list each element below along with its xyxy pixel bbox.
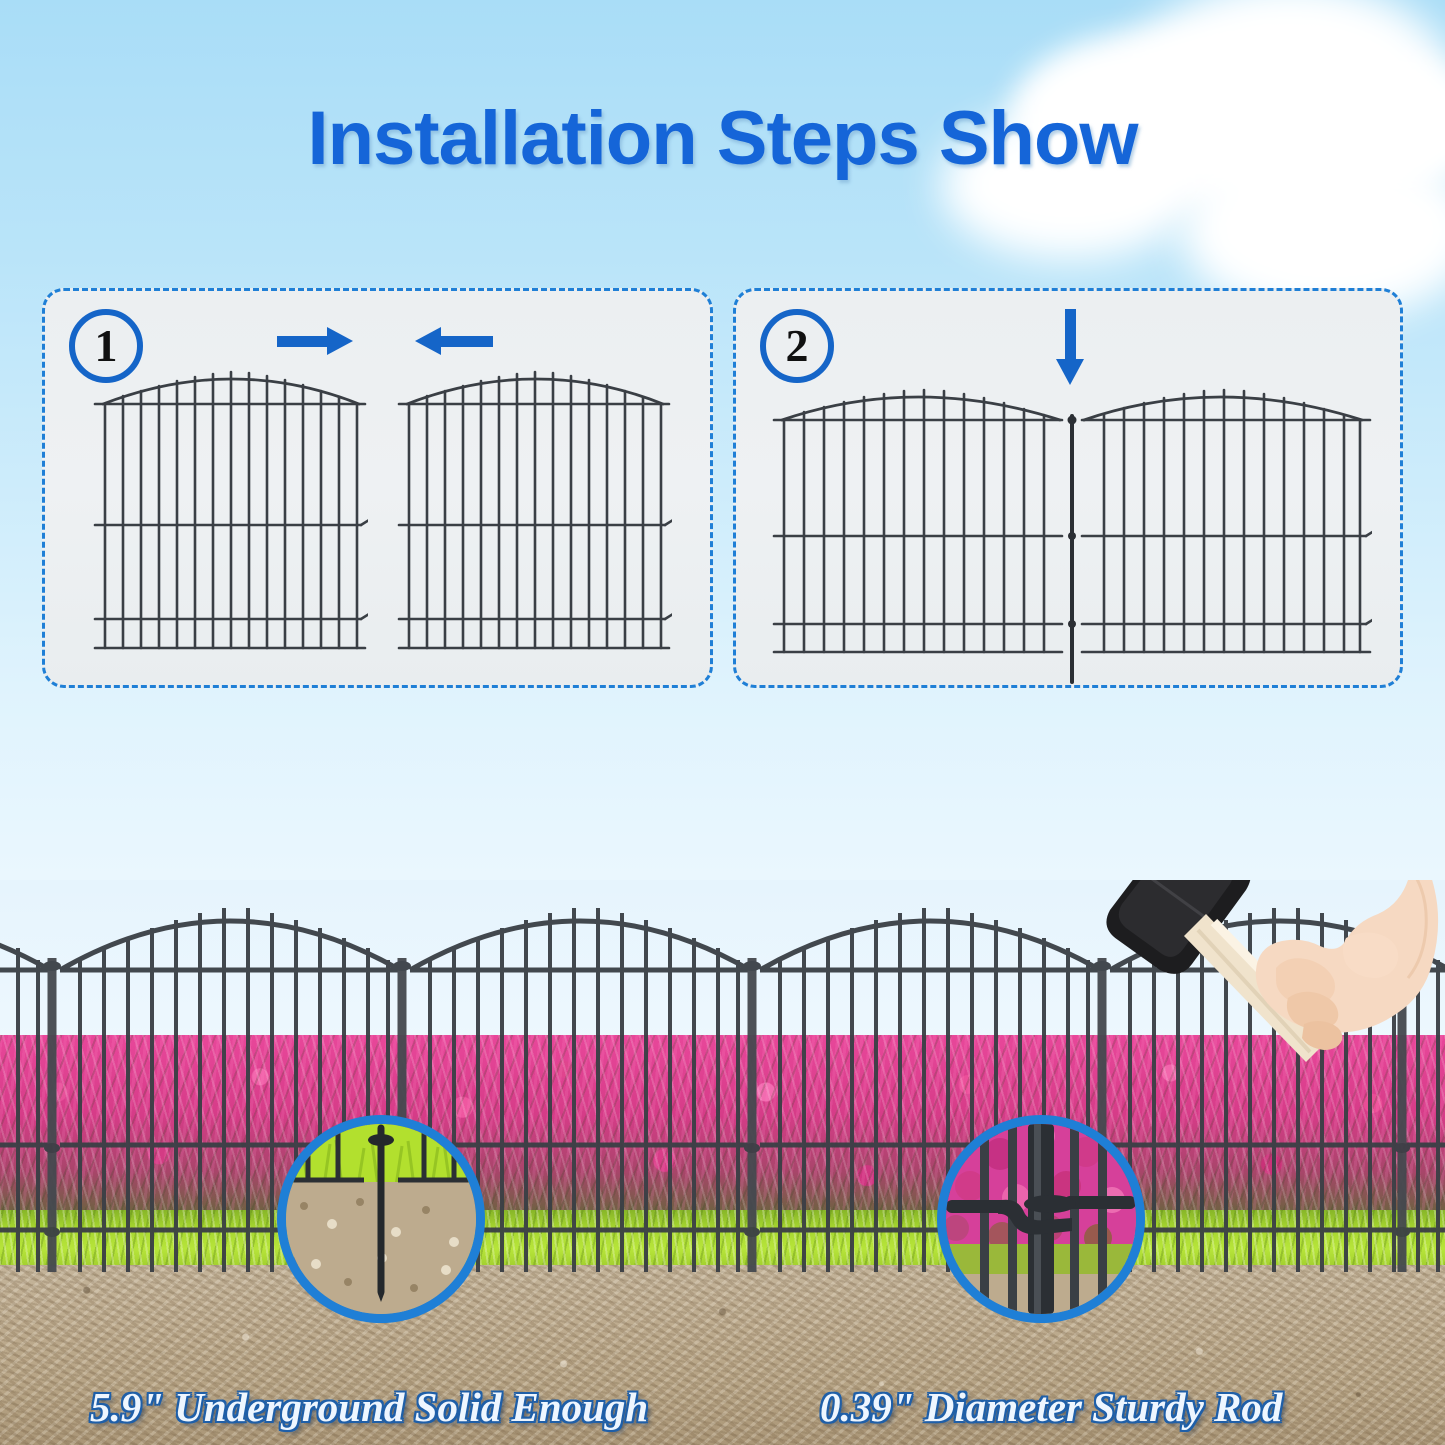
arrow-down-icon [1056, 309, 1084, 387]
page-title: Installation Steps Show [0, 95, 1445, 182]
stake-underground-illustration [286, 1124, 476, 1314]
step-2-box: 2 [733, 288, 1403, 688]
rod-rail-hook-illustration [946, 1124, 1136, 1314]
step-1-box: 1 [42, 288, 713, 688]
infographic-root: Installation Steps Show 1 [0, 0, 1445, 1445]
arrow-right-icon [277, 327, 355, 355]
caption-underground-depth: 5.9" Underground Solid Enough [90, 1383, 648, 1431]
installed-fence-scene: 5.9" Underground Solid Enough 0.39" Diam… [0, 880, 1445, 1445]
fence-panel-diagram [93, 366, 368, 656]
joined-panels-diagram [772, 386, 1372, 686]
caption-rod-diameter: 0.39" Diameter Sturdy Rod [820, 1383, 1282, 1431]
magnifier-rod-closeup [937, 1115, 1145, 1323]
connecting-rod-diagram [1068, 416, 1077, 683]
step-2-badge: 2 [760, 309, 834, 383]
magnifier-underground-stake [277, 1115, 485, 1323]
hand-holding-mallet [1088, 880, 1445, 1088]
fence-panel-diagram [397, 366, 672, 656]
arrow-left-icon [415, 327, 493, 355]
